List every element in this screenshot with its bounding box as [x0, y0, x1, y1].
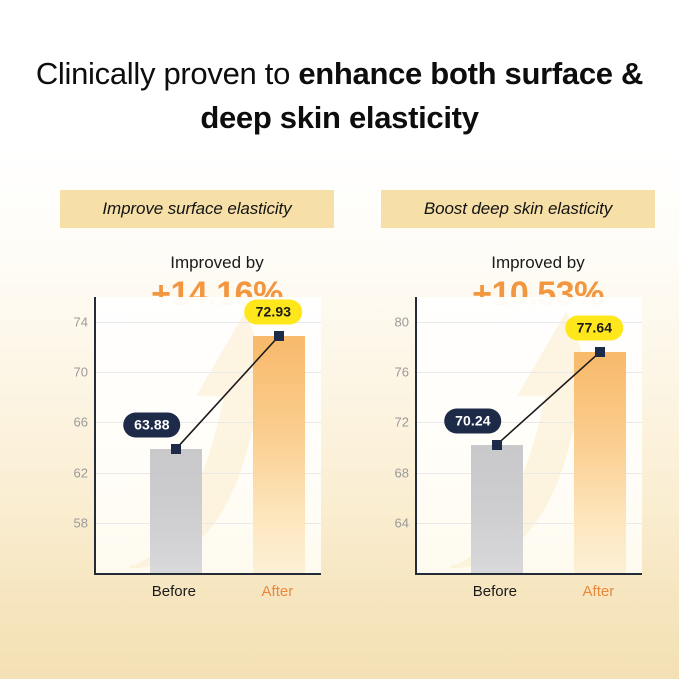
x-axis-label-after: After: [262, 583, 294, 600]
improved-by-label: Improved by: [92, 252, 342, 274]
headline-regular: Clinically proven to: [36, 56, 298, 91]
plot-area: 646872768070.2477.64: [415, 297, 642, 575]
y-axis-tick-label: 70: [74, 365, 88, 380]
y-axis-tick-label: 68: [395, 465, 409, 480]
y-axis-tick-label: 58: [74, 515, 88, 530]
plot-area: 586266707463.8872.93: [94, 297, 321, 575]
x-axis-labels: BeforeAfter: [415, 583, 642, 605]
improved-by-label: Improved by: [413, 252, 663, 274]
bar-chart-surface: 586266707463.8872.93 BeforeAfter: [56, 297, 321, 597]
bar-before: [150, 449, 202, 573]
value-label-before: 63.88: [123, 413, 181, 438]
panel-banner-label: Boost deep skin elasticity: [381, 190, 655, 228]
y-axis-tick-label: 74: [74, 315, 88, 330]
infographic-page: Clinically proven to enhance both surfac…: [0, 0, 679, 679]
panel-surface-elasticity: Improve surface elasticity Improved by +…: [32, 190, 326, 650]
value-label-after: 77.64: [566, 315, 624, 340]
data-point-marker: [171, 444, 181, 454]
y-axis-tick-label: 64: [395, 515, 409, 530]
panel-deep-elasticity: Boost deep skin elasticity Improved by +…: [353, 190, 647, 650]
y-axis-tick-label: 72: [395, 415, 409, 430]
bar-before: [471, 445, 523, 573]
x-axis-label-before: Before: [473, 583, 517, 600]
y-axis-tick-label: 62: [74, 465, 88, 480]
bar-after: [253, 336, 305, 573]
panel-banner-label: Improve surface elasticity: [60, 190, 334, 228]
data-point-marker: [274, 331, 284, 341]
data-point-marker: [595, 347, 605, 357]
bar-after: [574, 352, 626, 573]
y-axis-tick-label: 76: [395, 365, 409, 380]
value-label-before: 70.24: [444, 408, 502, 433]
y-axis-tick-label: 80: [395, 315, 409, 330]
x-axis-label-before: Before: [152, 583, 196, 600]
value-label-after: 72.93: [245, 299, 303, 324]
page-title: Clinically proven to enhance both surfac…: [0, 52, 679, 140]
y-axis-tick-label: 66: [74, 415, 88, 430]
x-axis-label-after: After: [583, 583, 615, 600]
x-axis-labels: BeforeAfter: [94, 583, 321, 605]
bar-chart-deep: 646872768070.2477.64 BeforeAfter: [377, 297, 642, 597]
data-point-marker: [492, 440, 502, 450]
